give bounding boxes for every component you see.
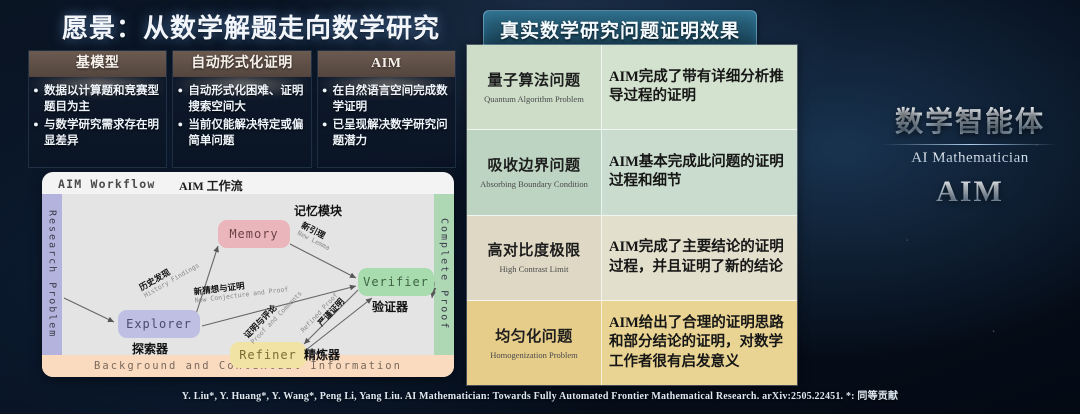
page-title: 愿景：从数学解题走向数学研究 [62, 8, 440, 45]
comparison-cards: 基模型 ● 数据以计算题和竞赛型题目为主 ● 与数学研究需求存在明显差异 自动形… [28, 50, 456, 168]
results-table: 量子算法问题 Quantum Algorithm Problem AIM完成了带… [466, 44, 798, 386]
node-memory-label-cn: 记忆模块 [294, 202, 342, 219]
table-cell-problem: 均匀化问题 Homogenization Problem [467, 301, 602, 385]
table-cell-problem: 量子算法问题 Quantum Algorithm Problem [467, 45, 602, 129]
workflow-diagram: AIM Workflow AIM 工作流 Research Problem Co… [42, 172, 454, 377]
brand-divider [882, 144, 1058, 145]
result-text: AIM完成了主要结论的证明过程，并且证明了新的结论 [609, 238, 790, 277]
result-text: AIM给出了合理的证明思路和部分结论的证明，对数学工作者很有启发意义 [609, 314, 790, 373]
bullet-dot-icon: ● [175, 117, 185, 150]
bullet-dot-icon: ● [31, 83, 41, 116]
table-row: 均匀化问题 Homogenization Problem AIM给出了合理的证明… [467, 301, 797, 385]
card-autoformalization: 自动形式化证明 ● 自动形式化困难、证明搜索空间大 ● 当前仅能解决特定或偏简单… [172, 50, 311, 168]
card-bullet: ● 当前仅能解决特定或偏简单问题 [175, 117, 306, 150]
card-bullet: ● 数据以计算题和竞赛型题目为主 [31, 83, 162, 116]
bullet-dot-icon: ● [175, 83, 185, 116]
bullet-text: 已呈现解决数学研究问题潜力 [333, 117, 451, 150]
problem-name-cn: 吸收边界问题 [487, 154, 580, 175]
workflow-title-en: AIM Workflow [58, 177, 155, 191]
node-verifier[interactable]: Verifier [358, 268, 434, 296]
bullet-dot-icon: ● [320, 117, 330, 150]
brand-title-cn: 数学智能体 [872, 100, 1068, 140]
table-cell-result: AIM给出了合理的证明思路和部分结论的证明，对数学工作者很有启发意义 [602, 301, 797, 385]
table-row: 量子算法问题 Quantum Algorithm Problem AIM完成了带… [467, 45, 797, 130]
problem-name-en: High Contrast Limit [500, 264, 569, 275]
result-text: AIM基本完成此问题的证明过程和细节 [609, 153, 790, 192]
brand-block: 数学智能体 AI Mathematician AIM [872, 100, 1068, 209]
bullet-text: 与数学研究需求存在明显差异 [44, 117, 162, 150]
brand-abbreviation: AIM [872, 175, 1068, 209]
card-aim: AIM ● 在自然语言空间完成数学证明 ● 已呈现解决数学研究问题潜力 [317, 50, 456, 168]
citation: Y. Liu*, Y. Huang*, Y. Wang*, Peng Li, Y… [0, 387, 1080, 402]
table-cell-problem: 吸收边界问题 Absorbing Boundary Condition [467, 130, 602, 214]
card-bullet: ● 在自然语言空间完成数学证明 [320, 83, 451, 116]
bullet-dot-icon: ● [31, 117, 41, 150]
card-body: ● 数据以计算题和竞赛型题目为主 ● 与数学研究需求存在明显差异 [29, 77, 166, 167]
table-cell-result: AIM基本完成此问题的证明过程和细节 [602, 130, 797, 214]
bullet-text: 当前仅能解决特定或偏简单问题 [188, 117, 306, 150]
node-explorer[interactable]: Explorer [118, 310, 200, 338]
bullet-text: 数据以计算题和竞赛型题目为主 [44, 83, 162, 116]
problem-name-cn: 量子算法问题 [487, 69, 580, 90]
card-title: AIM [318, 51, 455, 77]
bullet-text: 在自然语言空间完成数学证明 [333, 83, 451, 116]
bullet-dot-icon: ● [320, 83, 330, 116]
table-cell-result: AIM完成了带有详细分析推导过程的证明 [602, 45, 797, 129]
card-title: 自动形式化证明 [173, 51, 310, 77]
card-bullet: ● 自动形式化困难、证明搜索空间大 [175, 83, 306, 116]
node-explorer-label-cn: 探索器 [132, 340, 168, 357]
result-text: AIM完成了带有详细分析推导过程的证明 [609, 68, 790, 107]
card-bullet: ● 与数学研究需求存在明显差异 [31, 117, 162, 150]
card-title: 基模型 [29, 51, 166, 77]
problem-name-en: Quantum Algorithm Problem [484, 94, 584, 105]
node-verifier-label-cn: 验证器 [372, 298, 408, 315]
problem-name-en: Absorbing Boundary Condition [480, 179, 588, 190]
card-bullet: ● 已呈现解决数学研究问题潜力 [320, 117, 451, 150]
card-body: ● 自动形式化困难、证明搜索空间大 ● 当前仅能解决特定或偏简单问题 [173, 77, 310, 167]
card-body: ● 在自然语言空间完成数学证明 ● 已呈现解决数学研究问题潜力 [318, 77, 455, 167]
brand-title-en: AI Mathematician [872, 150, 1068, 167]
node-refiner[interactable]: Refiner [230, 342, 306, 368]
workflow-title-cn: AIM 工作流 [179, 177, 243, 194]
slide-background: 愿景：从数学解题走向数学研究 真实数学研究问题证明效果 基模型 ● 数据以计算题… [0, 0, 1080, 414]
bullet-text: 自动形式化困难、证明搜索空间大 [188, 83, 306, 116]
node-memory[interactable]: Memory [218, 220, 290, 248]
node-refiner-label-cn: 精炼器 [304, 346, 340, 363]
table-cell-problem: 高对比度极限 High Contrast Limit [467, 216, 602, 300]
table-row: 高对比度极限 High Contrast Limit AIM完成了主要结论的证明… [467, 216, 797, 301]
workflow-canvas: Research Problem Complete Proof [42, 194, 454, 355]
problem-name-cn: 均匀化问题 [495, 325, 573, 346]
table-row: 吸收边界问题 Absorbing Boundary Condition AIM基… [467, 130, 797, 215]
card-base-model: 基模型 ● 数据以计算题和竞赛型题目为主 ● 与数学研究需求存在明显差异 [28, 50, 167, 168]
problem-name-cn: 高对比度极限 [487, 239, 580, 260]
table-cell-result: AIM完成了主要结论的证明过程，并且证明了新的结论 [602, 216, 797, 300]
problem-name-en: Homogenization Problem [490, 350, 578, 361]
